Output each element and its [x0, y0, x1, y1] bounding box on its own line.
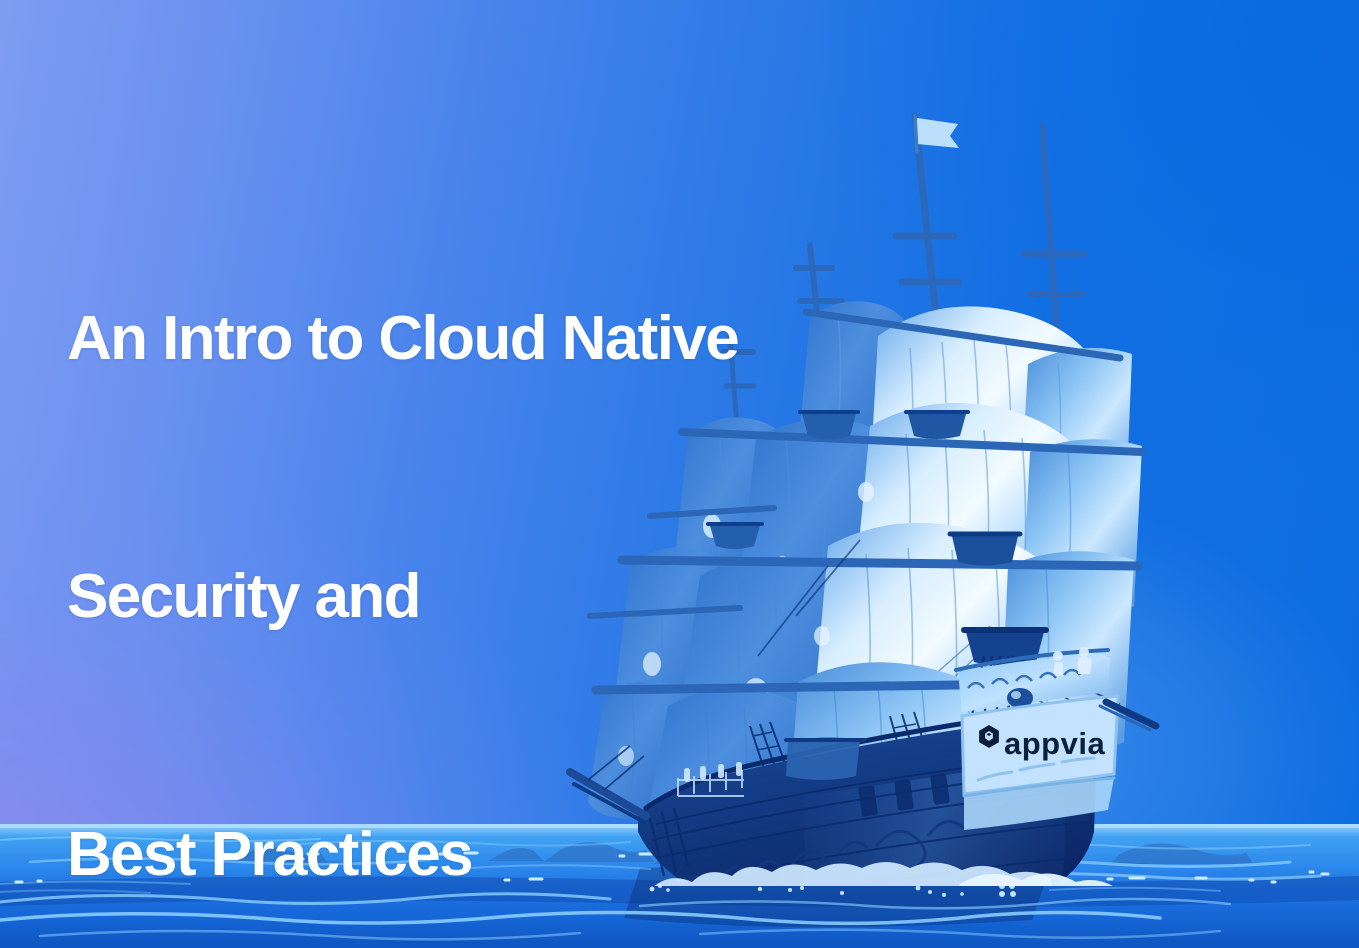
- hero-banner: appvia: [0, 0, 1359, 948]
- sailing-ship: appvia: [560, 96, 1160, 886]
- appvia-wordmark: appvia: [1004, 726, 1105, 761]
